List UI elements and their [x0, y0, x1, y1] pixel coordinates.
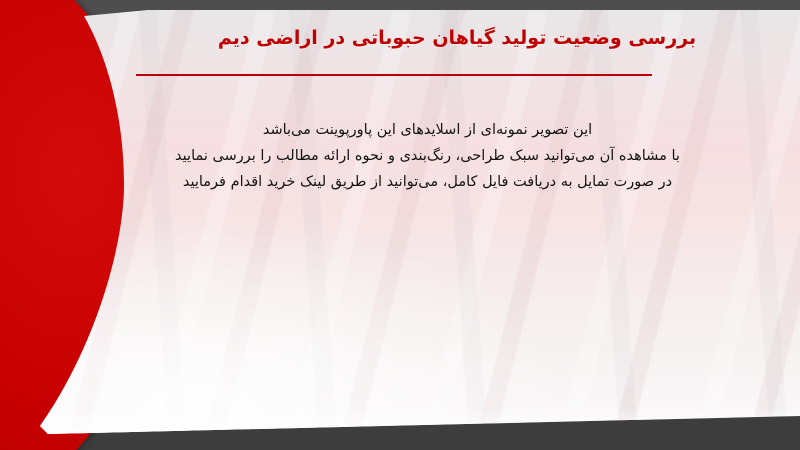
body-line-3: در صورت تمایل به دریافت فایل کامل، می‌تو…	[150, 170, 705, 196]
body-line-2: با مشاهده آن می‌توانید سبک طراحی، رنگ‌بن…	[150, 144, 705, 170]
slide-title: بررسی وضعیت تولید گیاهان حبوباتی در اراض…	[150, 26, 764, 52]
body-line-1: این تصویر نمونه‌ای از اسلایدهای این پاور…	[150, 118, 705, 144]
presentation-slide: بررسی وضعیت تولید گیاهان حبوباتی در اراض…	[0, 0, 800, 450]
slide-body-text: این تصویر نمونه‌ای از اسلایدهای این پاور…	[150, 118, 705, 195]
title-underline-rule	[136, 74, 652, 76]
